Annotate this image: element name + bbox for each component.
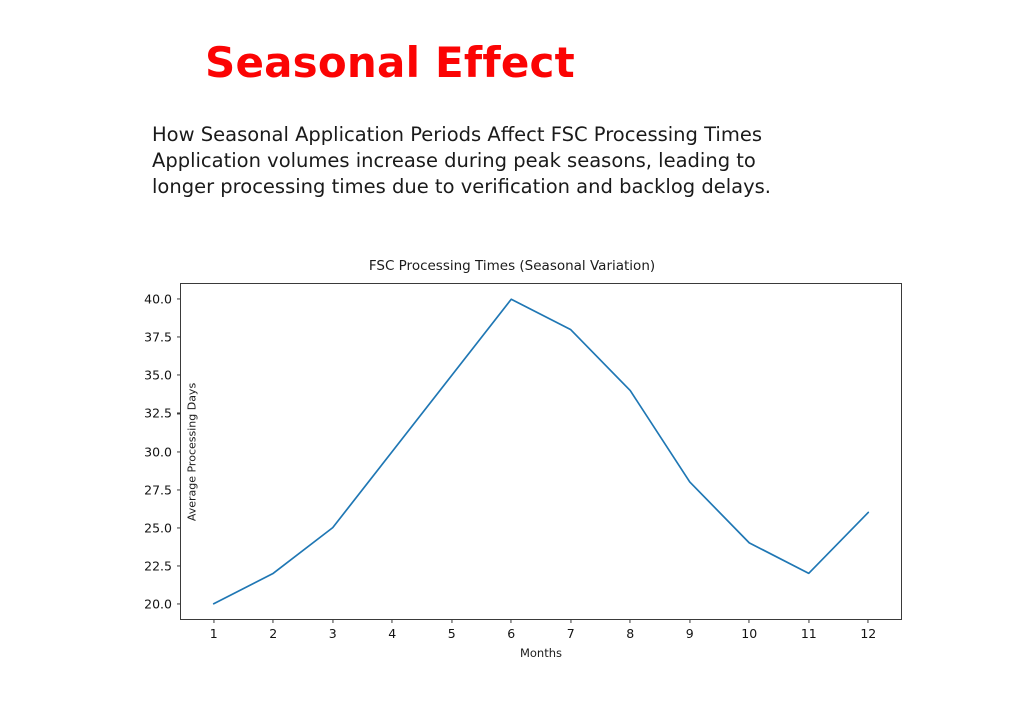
x-tick-label: 12	[860, 626, 876, 641]
y-tick-label: 20.0	[144, 596, 181, 611]
x-tick-mark	[570, 619, 571, 623]
x-tick-mark	[451, 619, 452, 623]
series-polyline	[214, 299, 869, 604]
x-tick-mark	[213, 619, 214, 623]
x-tick-mark	[273, 619, 274, 623]
y-tick-label: 40.0	[144, 292, 181, 307]
x-tick-label: 2	[269, 626, 277, 641]
y-tick-label: 25.0	[144, 520, 181, 535]
line-series-svg	[181, 284, 901, 619]
x-tick-mark	[630, 619, 631, 623]
x-tick-label: 3	[329, 626, 337, 641]
y-tick-label: 37.5	[144, 330, 181, 345]
y-tick-label: 35.0	[144, 368, 181, 383]
x-axis-label: Months	[181, 646, 901, 660]
slide-body-text: How Seasonal Application Periods Affect …	[152, 122, 912, 200]
x-tick-label: 5	[448, 626, 456, 641]
x-tick-mark	[749, 619, 750, 623]
chart-plot-area: Average Processing Days 20.022.525.027.5…	[180, 283, 902, 620]
x-tick-mark	[511, 619, 512, 623]
x-tick-label: 4	[388, 626, 396, 641]
x-tick-label: 7	[567, 626, 575, 641]
x-tick-label: 1	[210, 626, 218, 641]
x-tick-mark	[689, 619, 690, 623]
x-tick-mark	[392, 619, 393, 623]
x-tick-mark	[332, 619, 333, 623]
chart-figure: FSC Processing Times (Seasonal Variation…	[104, 258, 920, 660]
x-tick-label: 8	[626, 626, 634, 641]
body-line-3: longer processing times due to verificat…	[152, 174, 912, 200]
x-tick-label: 9	[686, 626, 694, 641]
body-line-1: How Seasonal Application Periods Affect …	[152, 122, 912, 148]
slide-canvas: Seasonal Effect How Seasonal Application…	[0, 0, 1024, 717]
y-tick-label: 22.5	[144, 558, 181, 573]
x-tick-label: 11	[801, 626, 817, 641]
chart-title: FSC Processing Times (Seasonal Variation…	[104, 258, 920, 274]
x-tick-mark	[808, 619, 809, 623]
page-title: Seasonal Effect	[205, 38, 575, 87]
y-tick-label: 30.0	[144, 444, 181, 459]
y-tick-label: 32.5	[144, 406, 181, 421]
body-line-2: Application volumes increase during peak…	[152, 148, 912, 174]
y-tick-label: 27.5	[144, 482, 181, 497]
x-tick-label: 10	[741, 626, 757, 641]
x-tick-mark	[868, 619, 869, 623]
x-tick-label: 6	[507, 626, 515, 641]
